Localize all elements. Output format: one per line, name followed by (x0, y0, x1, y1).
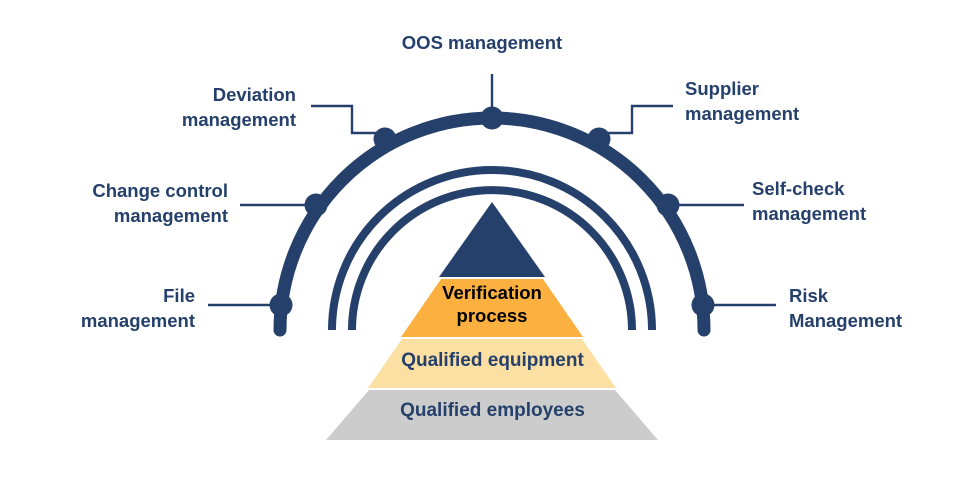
node-file[interactable] (270, 294, 293, 317)
node-change[interactable] (305, 194, 328, 217)
node-deviation[interactable] (374, 128, 397, 151)
pyramid-tier-employees[interactable] (326, 390, 658, 440)
connector-deviation (311, 106, 386, 133)
connector-supplier (598, 106, 673, 133)
node-oos[interactable] (481, 107, 504, 130)
pyramid-group (326, 202, 658, 440)
pyramid-tier-apex[interactable] (439, 202, 545, 277)
callout-label-risk[interactable]: Risk Management (789, 283, 975, 333)
callout-label-change-control[interactable]: Change control management (28, 178, 228, 228)
callout-label-self-check[interactable]: Self-check management (752, 176, 952, 226)
callout-label-oos[interactable]: OOS management (362, 30, 602, 55)
callout-label-file[interactable]: File management (28, 283, 195, 333)
pyramid-tier-equipment[interactable] (368, 339, 616, 388)
diagram-graphics (0, 0, 975, 482)
node-risk[interactable] (692, 294, 715, 317)
pyramid-tier-verification[interactable] (401, 279, 583, 337)
callout-label-supplier[interactable]: Supplier management (685, 76, 915, 126)
node-selfcheck[interactable] (657, 194, 680, 217)
diagram-canvas: OOS management Deviation management Supp… (0, 0, 975, 482)
node-supplier[interactable] (588, 128, 611, 151)
callout-label-deviation[interactable]: Deviation management (118, 82, 296, 132)
